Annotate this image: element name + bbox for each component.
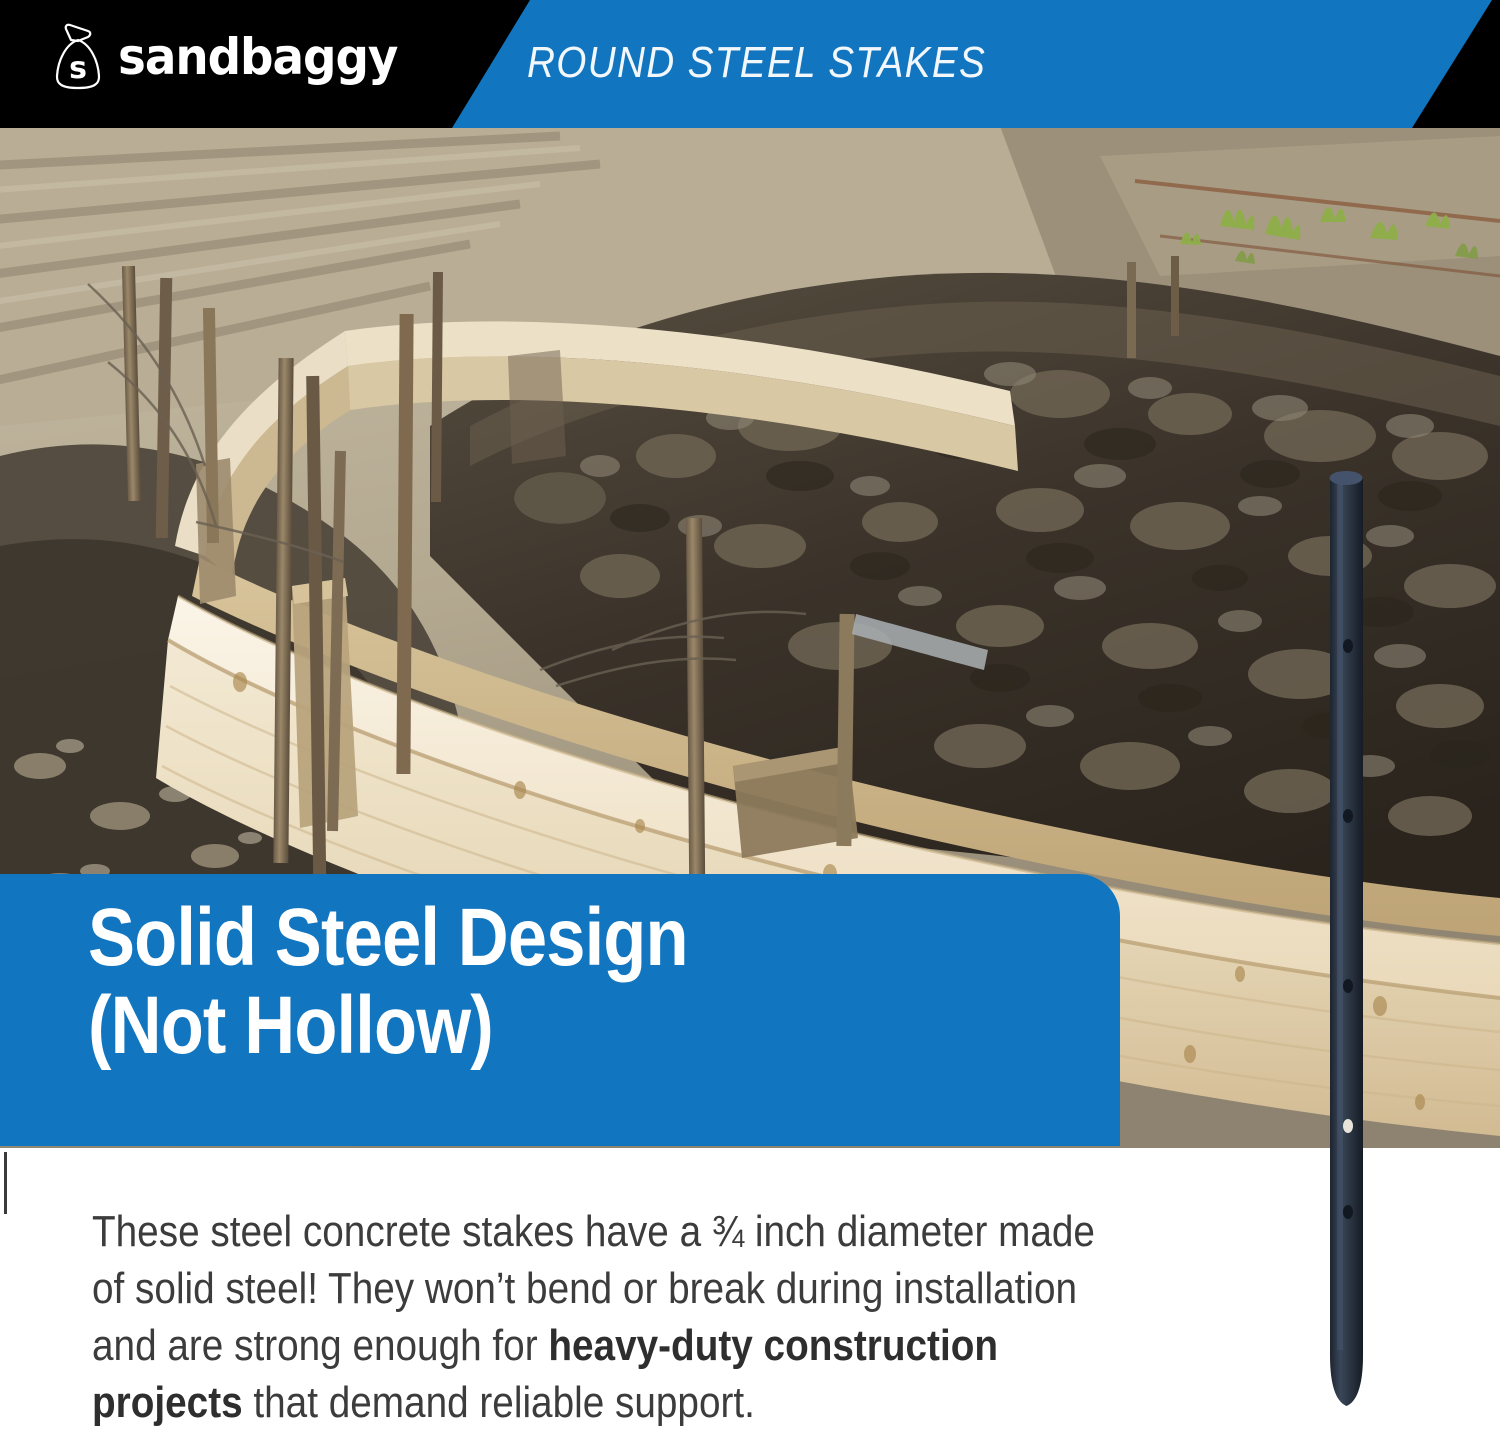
body-copy: These steel concrete stakes have a ¾ inc… [92, 1203, 1095, 1431]
headline-line-1: Solid Steel Design [88, 894, 957, 982]
headline-line-2: (Not Hollow) [88, 982, 957, 1070]
logo-wordmark: sandbaggy [118, 32, 397, 82]
logo[interactable]: s sandbaggy [52, 22, 387, 92]
body-copy-part-2: that demand reliable support. [243, 1378, 755, 1427]
header-title: ROUND STEEL STAKES [527, 38, 986, 88]
infographic-page: s sandbaggy ROUND STEEL STAKES Solid Ste… [0, 0, 1500, 1441]
steel-stake-tip [1320, 1140, 1380, 1420]
headline-panel: Solid Steel Design (Not Hollow) [0, 874, 1120, 1146]
sandbag-icon: s [52, 22, 104, 92]
headline: Solid Steel Design (Not Hollow) [88, 894, 957, 1070]
left-edge-rule [4, 1152, 7, 1214]
brand-header: s sandbaggy ROUND STEEL STAKES [0, 0, 1500, 128]
svg-text:s: s [69, 51, 87, 86]
